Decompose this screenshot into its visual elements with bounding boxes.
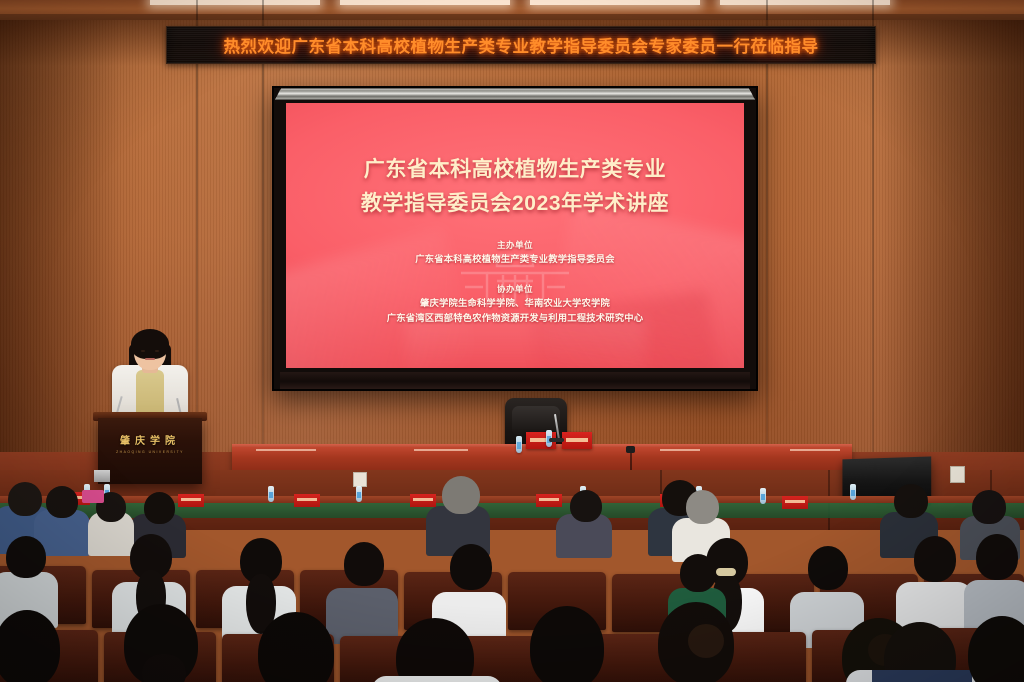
hanging-microphone [626, 446, 635, 453]
host-org-1: 广东省本科高校植物生产类专业教学指导委员会 [286, 252, 744, 267]
smartphone [82, 490, 104, 503]
wall-shadow-right [874, 20, 1024, 500]
desk-water-bottle [268, 486, 274, 502]
table-sheen [790, 449, 840, 451]
speaker-blouse [136, 370, 164, 416]
podium-name-en: ZHAOQING UNIVERSITY [98, 450, 202, 454]
desk-water-bottle [850, 484, 856, 500]
cohost-label: 协办单位 [286, 283, 744, 296]
hair-tie [716, 568, 736, 576]
speaker-hair [131, 329, 169, 359]
desk-name-card [782, 496, 808, 509]
ceiling-light [340, 0, 510, 5]
host-label: 主办单位 [286, 239, 744, 252]
ceiling-light [530, 0, 700, 5]
microphone-base [549, 438, 564, 442]
slide-title-line-2: 教学指导委员会2023年学术讲座 [286, 187, 744, 221]
stage-name-card [562, 432, 592, 449]
led-welcome-banner: 热烈欢迎广东省本科高校植物生产类专业教学指导委员会专家委员一行莅临指导 [166, 26, 876, 64]
slide-title: 广东省本科高校植物生产类专业 教学指导委员会2023年学术讲座 [286, 153, 744, 221]
water-bottle [516, 436, 522, 453]
desk-water-bottle [760, 488, 766, 504]
slide-organizers: 主办单位 广东省本科高校植物生产类专业教学指导委员会 协办单位 肇庆学院生命科学… [286, 239, 744, 326]
wall-panel-seam [196, 0, 198, 480]
speaker-eye [155, 350, 159, 352]
desk-name-card [536, 494, 562, 507]
led-banner-text: 热烈欢迎广东省本科高校植物生产类专业教学指导委员会专家委员一行莅临指导 [224, 33, 819, 57]
auditorium-scene: 热烈欢迎广东省本科高校植物生产类专业教学指导委员会专家委员一行莅临指导 [0, 0, 1024, 682]
screen-bottom-trim [280, 372, 750, 389]
wall-panel-seam [262, 0, 264, 480]
screen-top-trim [275, 88, 755, 99]
ceiling-light [150, 0, 320, 5]
slide-content: 广东省本科高校植物生产类专业 教学指导委员会2023年学术讲座 主办单位 广东省… [286, 103, 744, 368]
desk-water-bottle [356, 486, 362, 502]
audience-area [0, 470, 1024, 682]
projection-screen: 广东省本科高校植物生产类专业 教学指导委员会2023年学术讲座 主办单位 广东省… [272, 86, 758, 391]
table-sheen [414, 449, 468, 451]
ceiling [0, 0, 1024, 22]
cohost-org-1: 肇庆学院生命科学学院、华南农业大学农学院 [286, 296, 744, 311]
speaker-eye [141, 350, 145, 352]
speaker-mouth [145, 358, 155, 360]
uniform-collar [872, 670, 972, 682]
wall-panel-seam [766, 0, 768, 480]
table-sheen [256, 449, 316, 451]
table-sheen [660, 449, 700, 451]
cohost-org-2: 广东省湾区西部特色农作物资源开发与利用工程技术研究中心 [286, 311, 744, 326]
podium-nameplate: 肇庆学院 ZHAOQING UNIVERSITY [98, 432, 202, 454]
desk-name-card [178, 494, 204, 507]
spacer [286, 267, 744, 283]
slide-title-line-1: 广东省本科高校植物生产类专业 [286, 153, 744, 187]
podium-name-cn: 肇庆学院 [98, 432, 202, 447]
presentation-slide: 广东省本科高校植物生产类专业 教学指导委员会2023年学术讲座 主办单位 广东省… [286, 103, 744, 368]
desk-name-card [294, 494, 320, 507]
ceiling-light [720, 0, 890, 5]
desk-name-card [410, 494, 436, 507]
